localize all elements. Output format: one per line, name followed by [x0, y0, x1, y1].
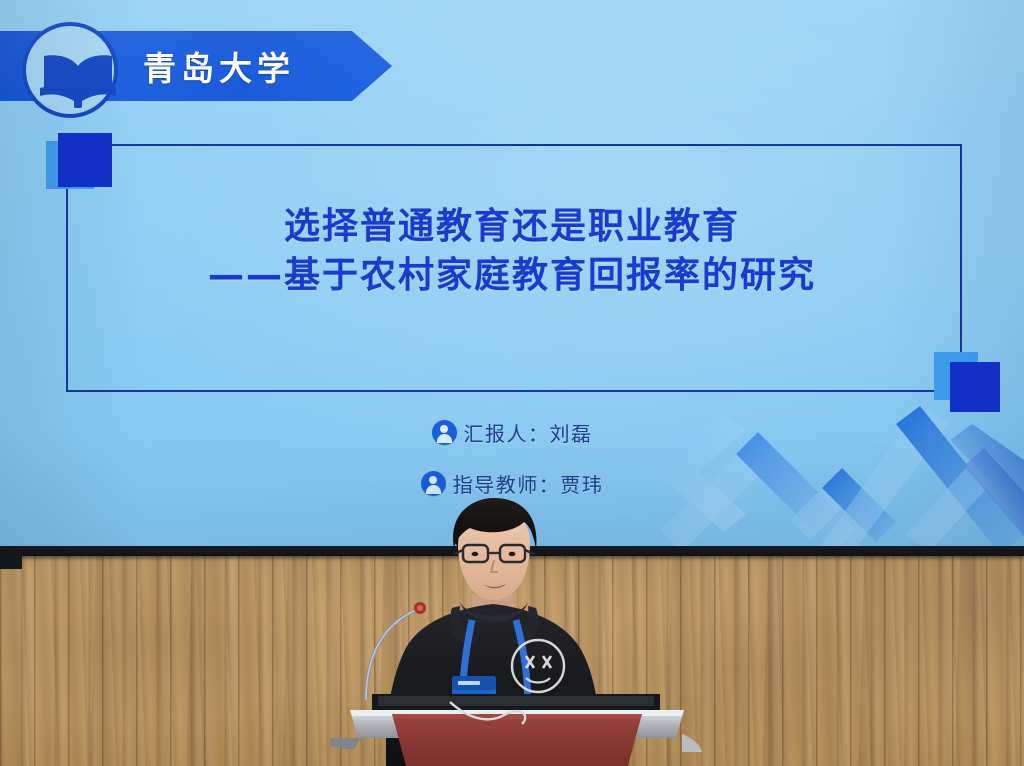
presenter-label: 汇报人：刘磊: [464, 418, 593, 447]
slide-title-line2: ——基于农村家庭教育回报率的研究: [0, 252, 1024, 299]
open-book-icon: [30, 30, 126, 126]
screenshot-root: 青岛大学 选择普通教育还是职业教育 ——基于农村家庭教育回报率的研究 汇报人：刘…: [0, 0, 1024, 766]
university-name-label: 青岛大学: [143, 42, 295, 90]
person-icon: [421, 471, 446, 496]
person-icon: [432, 420, 457, 445]
slide-title-line1: 选择普通教育还是职业教育: [0, 203, 1024, 250]
credit-row-advisor: 指导教师：贾玮: [0, 469, 1024, 498]
wall-shadow-left: [0, 543, 22, 569]
corner-square-dark-topleft: [58, 133, 112, 187]
credit-row-presenter: 汇报人：刘磊: [0, 418, 1024, 447]
lectern-podium: [330, 694, 704, 766]
podium-front-panel: [392, 714, 642, 766]
projection-screen-slide: 青岛大学 选择普通教育还是职业教育 ——基于农村家庭教育回报率的研究 汇报人：刘…: [0, 0, 1024, 546]
microphone: [360, 588, 490, 703]
advisor-label: 指导教师：贾玮: [453, 469, 604, 498]
slide-title: 选择普通教育还是职业教育 ——基于农村家庭教育回报率的研究: [0, 203, 1024, 299]
